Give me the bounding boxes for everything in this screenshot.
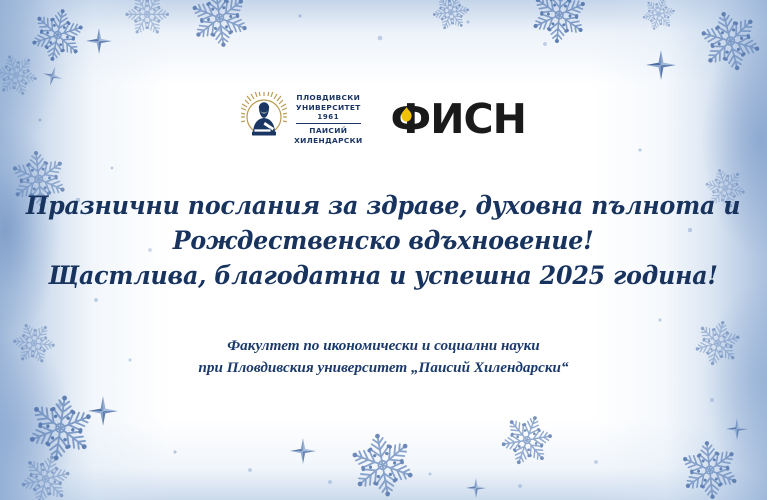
headline: Празнични послания за здраве, духовна пъ… [26, 189, 740, 295]
footer-line-1: Факултет по икономически и социални наук… [198, 335, 568, 358]
pu-line-3: ПАИСИЙ [294, 126, 362, 136]
pu-line-2: УНИВЕРСИТЕТ [294, 103, 362, 113]
footer-signature: Факултет по икономически и социални наук… [198, 335, 568, 381]
plovdiv-university-logo: ПЛОВДИВСКИ УНИВЕРСИТЕТ 1961 ПАИСИЙ ХИЛЕН… [241, 92, 362, 147]
headline-line-3: Щастлива, благодатна и успешна 2025 годи… [26, 259, 740, 294]
plovdiv-university-wordmark: ПЛОВДИВСКИ УНИВЕРСИТЕТ 1961 ПАИСИЙ ХИЛЕН… [294, 93, 362, 147]
fisn-logo: ФИСН [391, 99, 526, 140]
pu-divider [296, 123, 360, 124]
flame-icon [401, 88, 412, 103]
headline-line-2: Рождественско вдъхновение! [26, 224, 740, 259]
footer-line-2: при Пловдивския университет „Паисий Хиле… [198, 357, 568, 380]
pu-line-1: ПЛОВДИВСКИ [294, 93, 362, 103]
logo-row: ПЛОВДИВСКИ УНИВЕРСИТЕТ 1961 ПАИСИЙ ХИЛЕН… [241, 92, 526, 147]
greeting-card: ПЛОВДИВСКИ УНИВЕРСИТЕТ 1961 ПАИСИЙ ХИЛЕН… [0, 0, 767, 500]
pu-line-4: ХИЛЕНДАРСКИ [294, 136, 362, 146]
pu-year: 1961 [294, 113, 362, 122]
paisii-hilendarski-emblem-icon [241, 92, 287, 147]
headline-line-1: Празнични послания за здраве, духовна пъ… [26, 189, 740, 224]
card-content: ПЛОВДИВСКИ УНИВЕРСИТЕТ 1961 ПАИСИЙ ХИЛЕН… [0, 0, 767, 500]
